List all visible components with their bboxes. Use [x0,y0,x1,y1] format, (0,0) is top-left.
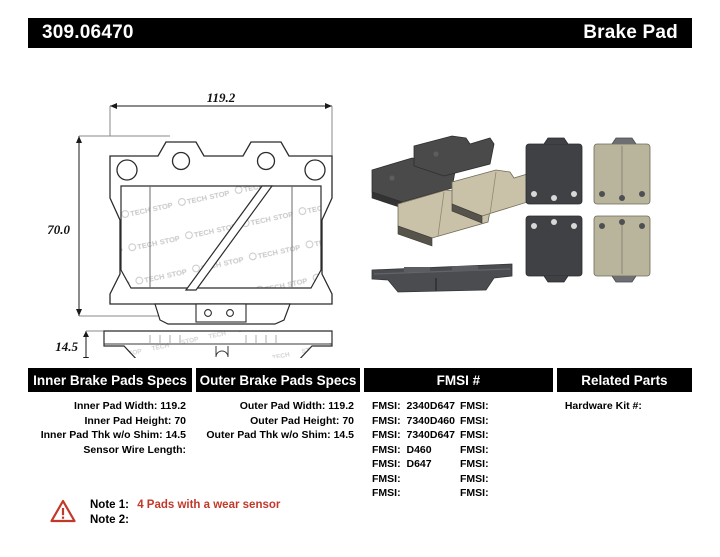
fmsi-row: FMSI: [460,414,548,429]
fmsi-row: FMSI: 7340D460 [372,414,460,429]
fmsi-value: 2340D647 [407,400,455,412]
header-banner: 309.06470 Brake Pad [28,18,692,48]
fmsi-label: FMSI: [460,444,489,456]
spec-value: 70 [342,415,354,427]
fmsi-row: FMSI: 7340D647 [372,428,460,443]
product-photo-flatlay-set [526,138,650,282]
dimension-thickness-label: 14.5 [55,339,78,354]
fmsi-row: FMSI: [460,457,548,472]
fmsi-label: FMSI: [460,473,489,485]
header-inner-specs: Inner Brake Pads Specs [28,368,192,392]
pad-front-view-drawing: 119.2 70.0 [47,90,332,324]
spec-table-body-row: Inner Pad Width: 119.2 Inner Pad Height:… [28,399,692,501]
spec-row: Inner Pad Width: 119.2 [28,399,192,414]
note-2-label: Note 2: [90,514,129,526]
note-2-row: Note 2: [90,513,280,528]
header-related-parts: Related Parts [557,368,692,392]
fmsi-label: FMSI: [460,415,489,427]
fmsi-value: D647 [407,458,432,470]
dimension-height-label: 70.0 [47,222,70,237]
spec-value: 14.5 [166,429,186,441]
note-1-value: 4 Pads with a wear sensor [137,499,280,511]
outer-specs-column: Outer Pad Width: 119.2 Outer Pad Height:… [196,399,360,501]
fmsi-column: FMSI: 2340D647 FMSI: 7340D460 FMSI: 7340… [364,399,553,501]
spec-label: Inner Pad Width: [74,400,157,412]
notes-area: Note 1: 4 Pads with a wear sensor Note 2… [50,498,280,528]
fmsi-row: FMSI: D647 [372,457,460,472]
spec-row: Outer Pad Height: 70 [196,414,360,429]
part-number: 309.06470 [42,22,134,44]
spec-value: 119.2 [328,400,354,412]
spec-row: Inner Pad Thk w/o Shim: 14.5 [28,428,192,443]
fmsi-label: FMSI: [372,473,401,485]
fmsi-row: FMSI: [372,486,460,501]
spec-label: Sensor Wire Length: [83,444,186,456]
fmsi-row: FMSI: [460,399,548,414]
fmsi-label: FMSI: [372,429,401,441]
header-outer-specs: Outer Brake Pads Specs [196,368,360,392]
spec-table: Inner Brake Pads Specs Outer Brake Pads … [28,368,692,501]
fmsi-row: FMSI: 2340D647 [372,399,460,414]
product-photo-angled-set [372,136,538,246]
fmsi-label: FMSI: [372,458,401,470]
fmsi-row: FMSI: [460,443,548,458]
warning-icon [50,499,76,523]
product-type-title: Brake Pad [583,22,678,44]
fmsi-row: FMSI: [460,472,548,487]
spec-label: Inner Pad Thk w/o Shim: [41,429,163,441]
fmsi-subcolumn-right: FMSI: FMSI: FMSI: FMSI: [460,399,548,501]
fmsi-row: FMSI: [460,486,548,501]
notes-text-block: Note 1: 4 Pads with a wear sensor Note 2… [90,498,280,528]
product-photo-edge-view [372,264,512,292]
spec-label: Inner Pad Height: [84,415,171,427]
fmsi-row: FMSI: D460 [372,443,460,458]
spec-value: 119.2 [160,400,186,412]
spec-table-header-row: Inner Brake Pads Specs Outer Brake Pads … [28,368,692,392]
spec-label: Outer Pad Thk w/o Shim: [206,429,330,441]
related-part-label: Hardware Kit #: [565,400,642,412]
inner-specs-column: Inner Pad Width: 119.2 Inner Pad Height:… [28,399,192,501]
fmsi-row: FMSI: [372,472,460,487]
fmsi-label: FMSI: [372,415,401,427]
fmsi-value: 7340D647 [407,429,455,441]
related-parts-column: Hardware Kit #: [557,399,692,501]
fmsi-label: FMSI: [372,487,401,499]
spec-row: Sensor Wire Length: [28,443,192,458]
note-1-label: Note 1: [90,499,129,511]
note-1-row: Note 1: 4 Pads with a wear sensor [90,498,280,513]
header-fmsi: FMSI # [364,368,553,392]
fmsi-value: 7340D460 [407,415,455,427]
dimension-width-label: 119.2 [207,90,236,105]
spec-row: Inner Pad Height: 70 [28,414,192,429]
fmsi-label: FMSI: [460,429,489,441]
related-part-row: Hardware Kit #: [557,399,692,414]
fmsi-label: FMSI: [460,400,489,412]
spec-label: Outer Pad Width: [240,400,326,412]
spec-row: Outer Pad Width: 119.2 [196,399,360,414]
fmsi-value: D460 [407,444,432,456]
spec-value: 70 [174,415,186,427]
fmsi-label: FMSI: [372,400,401,412]
spec-value: 14.5 [334,429,354,441]
fmsi-label: FMSI: [460,458,489,470]
fmsi-label: FMSI: [460,487,489,499]
fmsi-row: FMSI: [460,428,548,443]
spec-label: Outer Pad Height: [250,415,339,427]
fmsi-subcolumn-left: FMSI: 2340D647 FMSI: 7340D460 FMSI: 7340… [372,399,460,501]
fmsi-label: FMSI: [372,444,401,456]
spec-row: Outer Pad Thk w/o Shim: 14.5 [196,428,360,443]
illustration-area: STOP TECH STOP TECH 119.2 [0,58,720,358]
